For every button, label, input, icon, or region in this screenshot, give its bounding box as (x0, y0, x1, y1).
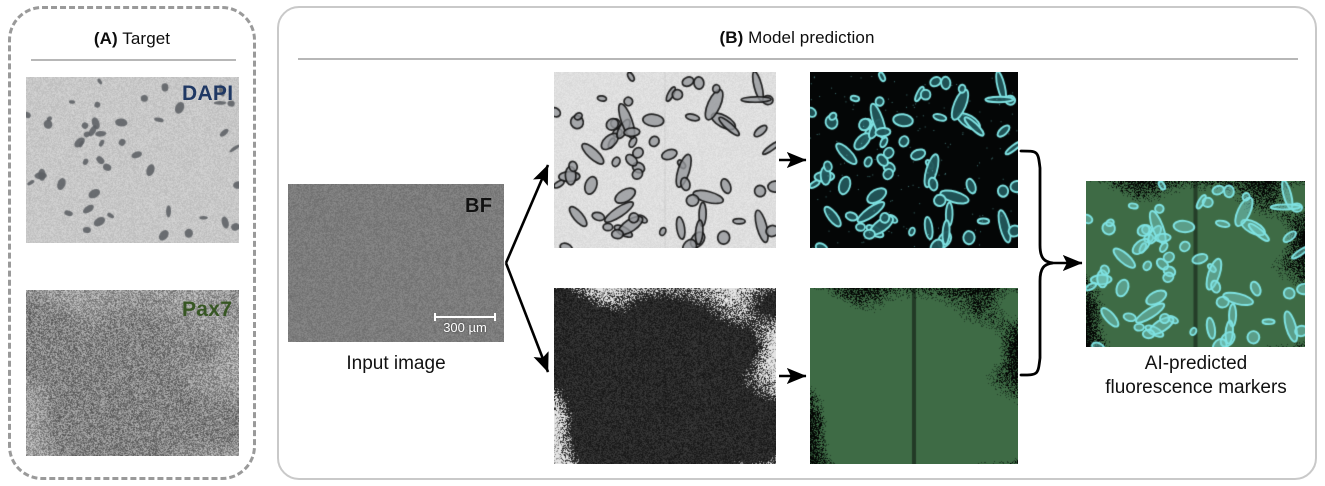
panel-b-title: (B) Model prediction (279, 28, 1315, 48)
panel-a-title-rule (31, 59, 236, 61)
pax7-prediction-image (810, 288, 1018, 464)
dapi-micrograph (26, 77, 239, 243)
figure-root: (A) Target DAPI Pax7 (B) Model predictio… (0, 0, 1325, 486)
merged-caption-line2: fluorescence markers (1072, 376, 1320, 400)
merged-caption-line1: AI-predicted (1072, 352, 1320, 376)
panel-a-title: (A) Target (11, 29, 253, 49)
panel-a-label: (A) (94, 29, 118, 48)
pax7-segmentation-image (554, 288, 776, 464)
pax7-micrograph (26, 290, 239, 456)
panel-a-label-text: Target (118, 29, 170, 48)
nuclei-segmentation-image (554, 72, 776, 248)
dapi-prediction-image (810, 72, 1018, 248)
scale-bar-line (434, 316, 496, 318)
merged-prediction-image (1086, 181, 1305, 347)
panel-b-label-text: Model prediction (743, 28, 874, 47)
input-image-caption: Input image (288, 352, 504, 376)
scale-bar: 300 µm (434, 316, 496, 335)
panel-b-label: (B) (719, 28, 743, 47)
merged-prediction-caption: AI-predicted fluorescence markers (1072, 352, 1320, 400)
scale-bar-label: 300 µm (434, 320, 496, 335)
panel-b-title-rule (298, 58, 1298, 60)
